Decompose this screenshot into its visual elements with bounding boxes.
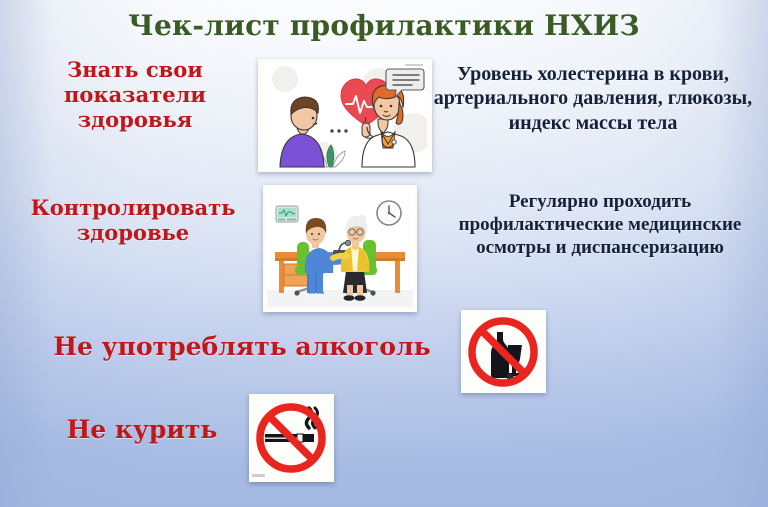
no-alcohol-icon [461, 310, 546, 393]
nurse-blood-pressure-elderly-patient-illustration [267, 190, 413, 307]
checklist-label-no-smoking: Не курить [34, 415, 250, 445]
no-alcohol-sign [461, 310, 546, 393]
no-smoking-icon [249, 394, 334, 482]
checklist-label-no-alcohol: Не употреблять алкоголь [24, 332, 460, 362]
checklist-description-control-health: Регулярно проходить профилактические мед… [440, 190, 760, 260]
slide-canvas: Чек-лист профилактики НХИЗ Знать свои по… [0, 0, 768, 507]
no-smoking-sign [249, 394, 334, 482]
wall-clock-icon [377, 201, 401, 225]
illustration-medical-checkup [263, 185, 417, 312]
checklist-label-control-health: Контролировать здоровье [10, 196, 256, 246]
doctor-patient-heart-ecg-illustration [263, 63, 427, 168]
wall-monitor-icon [276, 206, 298, 222]
illustration-medical-checkup-canvas [267, 190, 413, 307]
checklist-label-know-your-numbers: Знать свои показатели здоровья [24, 58, 246, 132]
illustration-doctor-consultation [258, 59, 432, 172]
illustration-doctor-consultation-canvas [263, 63, 427, 168]
page-title: Чек-лист профилактики НХИЗ [0, 9, 768, 42]
checklist-description-know-your-numbers: Уровень холестерина в крови, артериально… [424, 62, 762, 135]
